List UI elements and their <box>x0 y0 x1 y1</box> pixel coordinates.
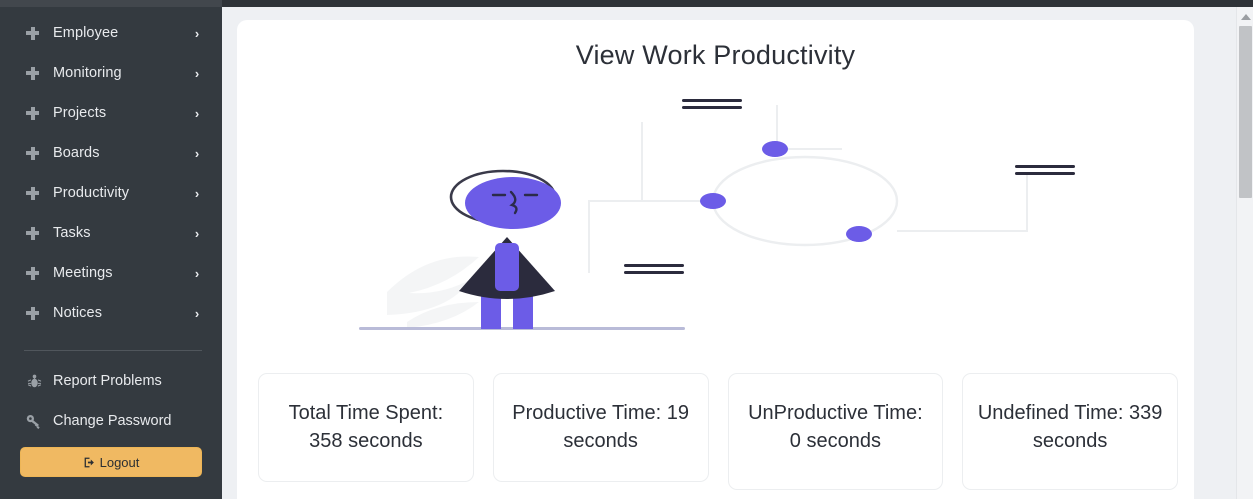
chevron-right-icon: › <box>192 267 202 280</box>
sidebar: Employee › Monitoring › Projects › Board… <box>0 0 222 499</box>
sidebar-item-label: Monitoring <box>53 65 192 81</box>
chevron-right-icon: › <box>192 67 202 80</box>
plus-icon <box>26 187 39 200</box>
label-mark-left <box>624 264 684 274</box>
sidebar-item-employee[interactable]: Employee › <box>0 13 222 53</box>
sidebar-item-label: Notices <box>53 305 192 321</box>
sidebar-item-label: Tasks <box>53 225 192 241</box>
chevron-right-icon: › <box>192 187 202 200</box>
plus-icon <box>26 107 39 120</box>
plus-icon <box>26 27 39 40</box>
sidebar-top-strip <box>0 0 222 7</box>
chevron-up-icon <box>1241 14 1251 20</box>
sidebar-item-projects[interactable]: Projects › <box>0 93 222 133</box>
stat-card-unproductive-time: UnProductive Time: 0 seconds <box>728 373 944 490</box>
work-productivity-illustration <box>237 77 1194 339</box>
sidebar-item-meetings[interactable]: Meetings › <box>0 253 222 293</box>
sidebar-item-label: Productivity <box>53 185 192 201</box>
chevron-right-icon: › <box>192 227 202 240</box>
sidebar-divider <box>24 350 202 351</box>
bug-icon <box>26 373 42 389</box>
stat-card-undefined-time: Undefined Time: 339 seconds <box>962 373 1178 490</box>
scrollbar-up-button[interactable] <box>1237 9 1253 25</box>
plus-icon <box>26 227 39 240</box>
sidebar-item-boards[interactable]: Boards › <box>0 133 222 173</box>
app-root: Employee › Monitoring › Projects › Board… <box>0 0 1253 499</box>
sidebar-nav: Employee › Monitoring › Projects › Board… <box>0 0 222 477</box>
plus-icon <box>26 307 39 320</box>
plus-icon <box>26 67 39 80</box>
chevron-right-icon: › <box>192 107 202 120</box>
sidebar-item-label: Report Problems <box>53 373 162 389</box>
network-node <box>846 226 872 242</box>
stat-card-productive-time: Productive Time: 19 seconds <box>493 373 709 482</box>
sidebar-item-label: Projects <box>53 105 192 121</box>
key-icon <box>26 413 42 429</box>
illustration-svg <box>237 77 1194 339</box>
figure-body-stripe <box>495 243 519 291</box>
chevron-right-icon: › <box>192 27 202 40</box>
chevron-right-icon: › <box>192 147 202 160</box>
sidebar-item-tasks[interactable]: Tasks › <box>0 213 222 253</box>
main-content: View Work Productivity <box>222 0 1253 499</box>
plus-icon <box>26 267 39 280</box>
sidebar-item-label: Boards <box>53 145 192 161</box>
label-mark-top <box>682 99 742 109</box>
chevron-right-icon: › <box>192 307 202 320</box>
label-mark-right <box>1015 165 1075 175</box>
stat-card-row: Total Time Spent: 358 seconds Productive… <box>258 373 1178 490</box>
sign-out-icon <box>83 456 96 469</box>
network-node <box>700 193 726 209</box>
stat-card-total-time: Total Time Spent: 358 seconds <box>258 373 474 482</box>
sidebar-item-label: Employee <box>53 25 192 41</box>
sidebar-item-report-problems[interactable]: Report Problems <box>0 361 222 401</box>
sidebar-item-productivity[interactable]: Productivity › <box>0 173 222 213</box>
plus-icon <box>26 147 39 160</box>
network-connector-bottom-left <box>589 201 713 273</box>
page-title: View Work Productivity <box>237 20 1194 71</box>
sidebar-item-change-password[interactable]: Change Password <box>0 401 222 441</box>
scrollbar-thumb[interactable] <box>1239 26 1252 198</box>
network-connector-right <box>897 173 1027 231</box>
content-card: View Work Productivity <box>237 20 1194 499</box>
main-top-strip <box>222 0 1253 7</box>
logout-button[interactable]: Logout <box>20 447 202 477</box>
logout-label: Logout <box>100 455 140 470</box>
vertical-scrollbar[interactable] <box>1236 7 1253 499</box>
sidebar-item-notices[interactable]: Notices › <box>0 293 222 333</box>
sidebar-item-label: Change Password <box>53 413 172 429</box>
network-node <box>762 141 788 157</box>
sidebar-item-monitoring[interactable]: Monitoring › <box>0 53 222 93</box>
network-connector-top-left <box>642 122 713 201</box>
sidebar-item-label: Meetings <box>53 265 192 281</box>
